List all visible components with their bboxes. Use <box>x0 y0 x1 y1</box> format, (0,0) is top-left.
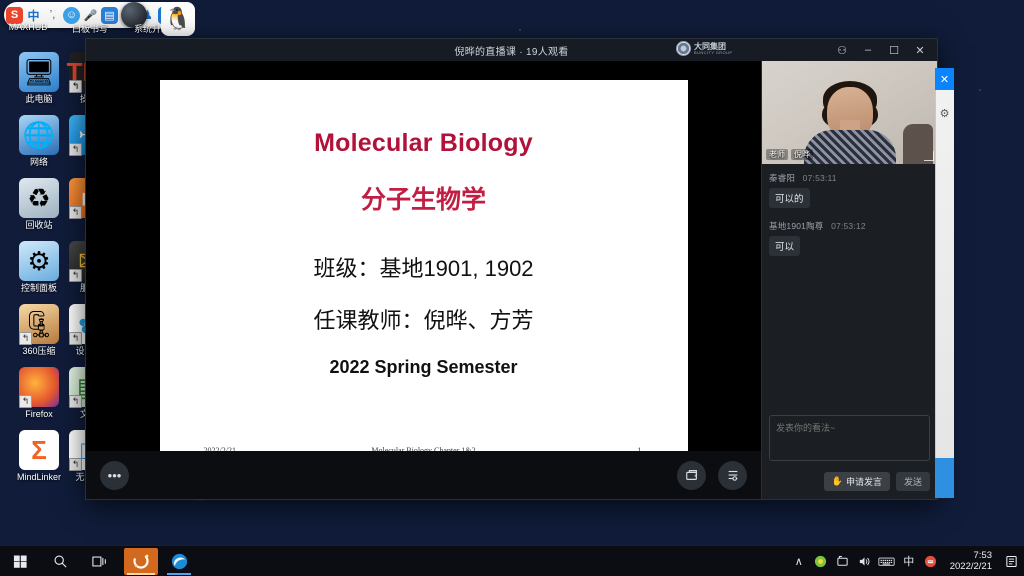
ime-voice-icon[interactable]: 🎤 <box>82 7 99 24</box>
share-screen-button[interactable] <box>677 461 706 490</box>
chat-message-text: 可以的 <box>769 188 810 208</box>
desktop-icon-label-whiteboard: 白板书写 <box>64 22 116 35</box>
edge-browser-icon <box>170 552 189 571</box>
ime-language-toggle[interactable]: 中 <box>25 7 42 24</box>
screenshot-icon <box>836 555 849 568</box>
tray-app-icon[interactable] <box>920 546 942 576</box>
action-center-icon <box>1005 555 1018 568</box>
mindlinker-icon: Σ <box>19 430 59 470</box>
chat-input[interactable] <box>769 415 930 461</box>
request-to-speak-label: 申请发言 <box>846 475 882 488</box>
chat-message-list[interactable]: 秦睿阳 07:53:11 可以的 基地1901陶尊 07:53:12 可以 <box>762 164 937 409</box>
slide-semester: 2022 Spring Semester <box>160 357 688 378</box>
brand-name-en: BUNCITY GROUP <box>694 51 732 55</box>
video-body-shape <box>804 130 896 164</box>
slide-class-line: 班级：基地1901, 1902 <box>160 251 688 283</box>
taskbar-clock[interactable]: 7:53 2022/2/21 <box>942 546 1000 576</box>
chat-message: 基地1901陶尊 07:53:12 可以 <box>769 220 930 256</box>
360-shield-icon <box>814 555 827 568</box>
slide-teacher-line: 任课教师：倪晔、方芳 <box>160 303 688 335</box>
live-class-window: 倪晔的直播课 · 19人观看 大同集团 BUNCITY GROUP ⚇ – ☐ … <box>85 38 938 500</box>
chat-message-header: 基地1901陶尊 07:53:12 <box>769 220 930 232</box>
speaker-icon <box>858 555 871 568</box>
chat-sender-name: 秦睿阳 <box>769 173 795 183</box>
controlbar-right-group <box>677 461 747 490</box>
video-person-name: 倪晔 <box>791 149 813 160</box>
meeting-app-icon <box>131 551 151 571</box>
edge-panel-handle[interactable] <box>935 458 954 498</box>
request-to-speak-button[interactable]: ✋ 申请发言 <box>824 472 890 491</box>
chat-compose-buttons: ✋ 申请发言 发送 <box>769 472 930 491</box>
sliders-icon <box>726 468 740 482</box>
tray-volume-icon[interactable] <box>854 546 876 576</box>
clock-date: 2022/2/21 <box>950 561 992 572</box>
ellipsis-icon: ••• <box>108 468 122 483</box>
tray-keyboard-icon[interactable] <box>876 546 898 576</box>
ime-emoji-icon[interactable]: ☺ <box>63 7 80 24</box>
teacher-video-tile[interactable]: 老师 倪晔 <box>762 61 937 164</box>
close-button[interactable]: ✕ <box>907 40 933 60</box>
ime-toolbox-icon[interactable]: ▤ <box>101 7 118 24</box>
edge-panel-close-button[interactable]: ✕ <box>935 68 954 90</box>
desktop: S 中 ʼ, ☺ 🎤 ▤ ☖ ♟ ▦ MAXHUB 白板书写 系统升级 🐧 腾讯… <box>0 0 1024 576</box>
search-icon <box>53 554 68 569</box>
brand-seal-icon <box>676 41 691 56</box>
search-button[interactable] <box>40 546 80 576</box>
chat-compose-area: ✋ 申请发言 发送 <box>762 409 937 499</box>
qq-icon[interactable]: 🐧 <box>161 2 195 36</box>
more-options-button[interactable]: ••• <box>100 461 129 490</box>
window-body: Molecular Biology 分子生物学 班级：基地1901, 1902 … <box>86 61 937 499</box>
brand-logo: 大同集团 BUNCITY GROUP <box>676 41 732 56</box>
chat-panel: 老师 倪晔 秦睿阳 07:53:11 可以的 <box>761 61 937 499</box>
chat-message-header: 秦睿阳 07:53:11 <box>769 172 930 184</box>
tray-360-icon[interactable] <box>810 546 832 576</box>
video-expand-icon[interactable] <box>924 151 934 161</box>
chat-timestamp: 07:53:11 <box>803 173 837 183</box>
notification-bell-button[interactable]: ⚇ <box>829 40 855 60</box>
chat-timestamp: 07:53:12 <box>831 221 866 231</box>
presentation-stage[interactable]: Molecular Biology 分子生物学 班级：基地1901, 1902 … <box>86 61 761 499</box>
raise-hand-icon: ✋ <box>832 476 843 487</box>
tray-ime-indicator[interactable]: 中 <box>898 546 920 576</box>
video-role-tag: 老师 <box>766 149 788 160</box>
window-controls: ⚇ – ☐ ✕ <box>829 40 933 60</box>
network-icon: 🌐 <box>19 115 59 155</box>
window-titlebar[interactable]: 倪晔的直播课 · 19人观看 大同集团 BUNCITY GROUP ⚇ – ☐ … <box>86 39 937 61</box>
task-view-icon <box>92 554 108 569</box>
send-message-button[interactable]: 发送 <box>896 472 930 491</box>
this-pc-icon: 🖥 <box>19 52 59 92</box>
screen-share-icon <box>685 468 699 482</box>
windows-taskbar: ∧ <box>0 545 1024 576</box>
action-center-button[interactable] <box>1000 546 1022 576</box>
keyboard-icon <box>878 555 895 568</box>
maximize-button[interactable]: ☐ <box>881 40 907 60</box>
slide-canvas: Molecular Biology 分子生物学 班级：基地1901, 1902 … <box>160 80 688 472</box>
firefox-icon <box>19 367 59 407</box>
chat-message-text: 可以 <box>769 236 800 256</box>
slide-title-cn: 分子生物学 <box>160 180 688 216</box>
settings-button[interactable] <box>718 461 747 490</box>
presentation-controlbar: ••• <box>86 451 761 499</box>
tray-overflow-chevron-icon[interactable]: ∧ <box>788 546 810 576</box>
edge-panel-settings-icon[interactable]: ⚙ <box>935 104 954 122</box>
sogou-logo-icon[interactable]: S <box>6 7 23 24</box>
taskbar-app-meeting[interactable] <box>124 548 158 575</box>
chat-message: 秦睿阳 07:53:11 可以的 <box>769 172 930 208</box>
video-name-label: 老师 倪晔 <box>766 149 813 160</box>
ime-punctuation-icon[interactable]: ʼ, <box>44 7 61 24</box>
net-disk-icon <box>924 555 937 568</box>
edge-sidebar-panel[interactable] <box>935 68 954 498</box>
desktop-icon-label-maxhub: MAXHUB <box>2 22 54 32</box>
window-title: 倪晔的直播课 · 19人观看 <box>86 43 937 58</box>
360-zip-icon: 🗜 <box>19 304 59 344</box>
slide-title-en: Molecular Biology <box>160 129 688 158</box>
clock-time: 7:53 <box>974 550 993 561</box>
recycle-bin-icon: ♻ <box>19 178 59 218</box>
tray-screenshot-icon[interactable] <box>832 546 854 576</box>
start-button[interactable] <box>0 546 40 576</box>
control-panel-icon: ⚙ <box>19 241 59 281</box>
taskbar-app-edge[interactable] <box>162 548 196 575</box>
minimize-button[interactable]: – <box>855 40 881 60</box>
windows-logo-icon <box>13 554 28 569</box>
task-view-button[interactable] <box>80 546 120 576</box>
chat-sender-name: 基地1901陶尊 <box>769 221 824 231</box>
system-tray: ∧ <box>788 546 1024 576</box>
